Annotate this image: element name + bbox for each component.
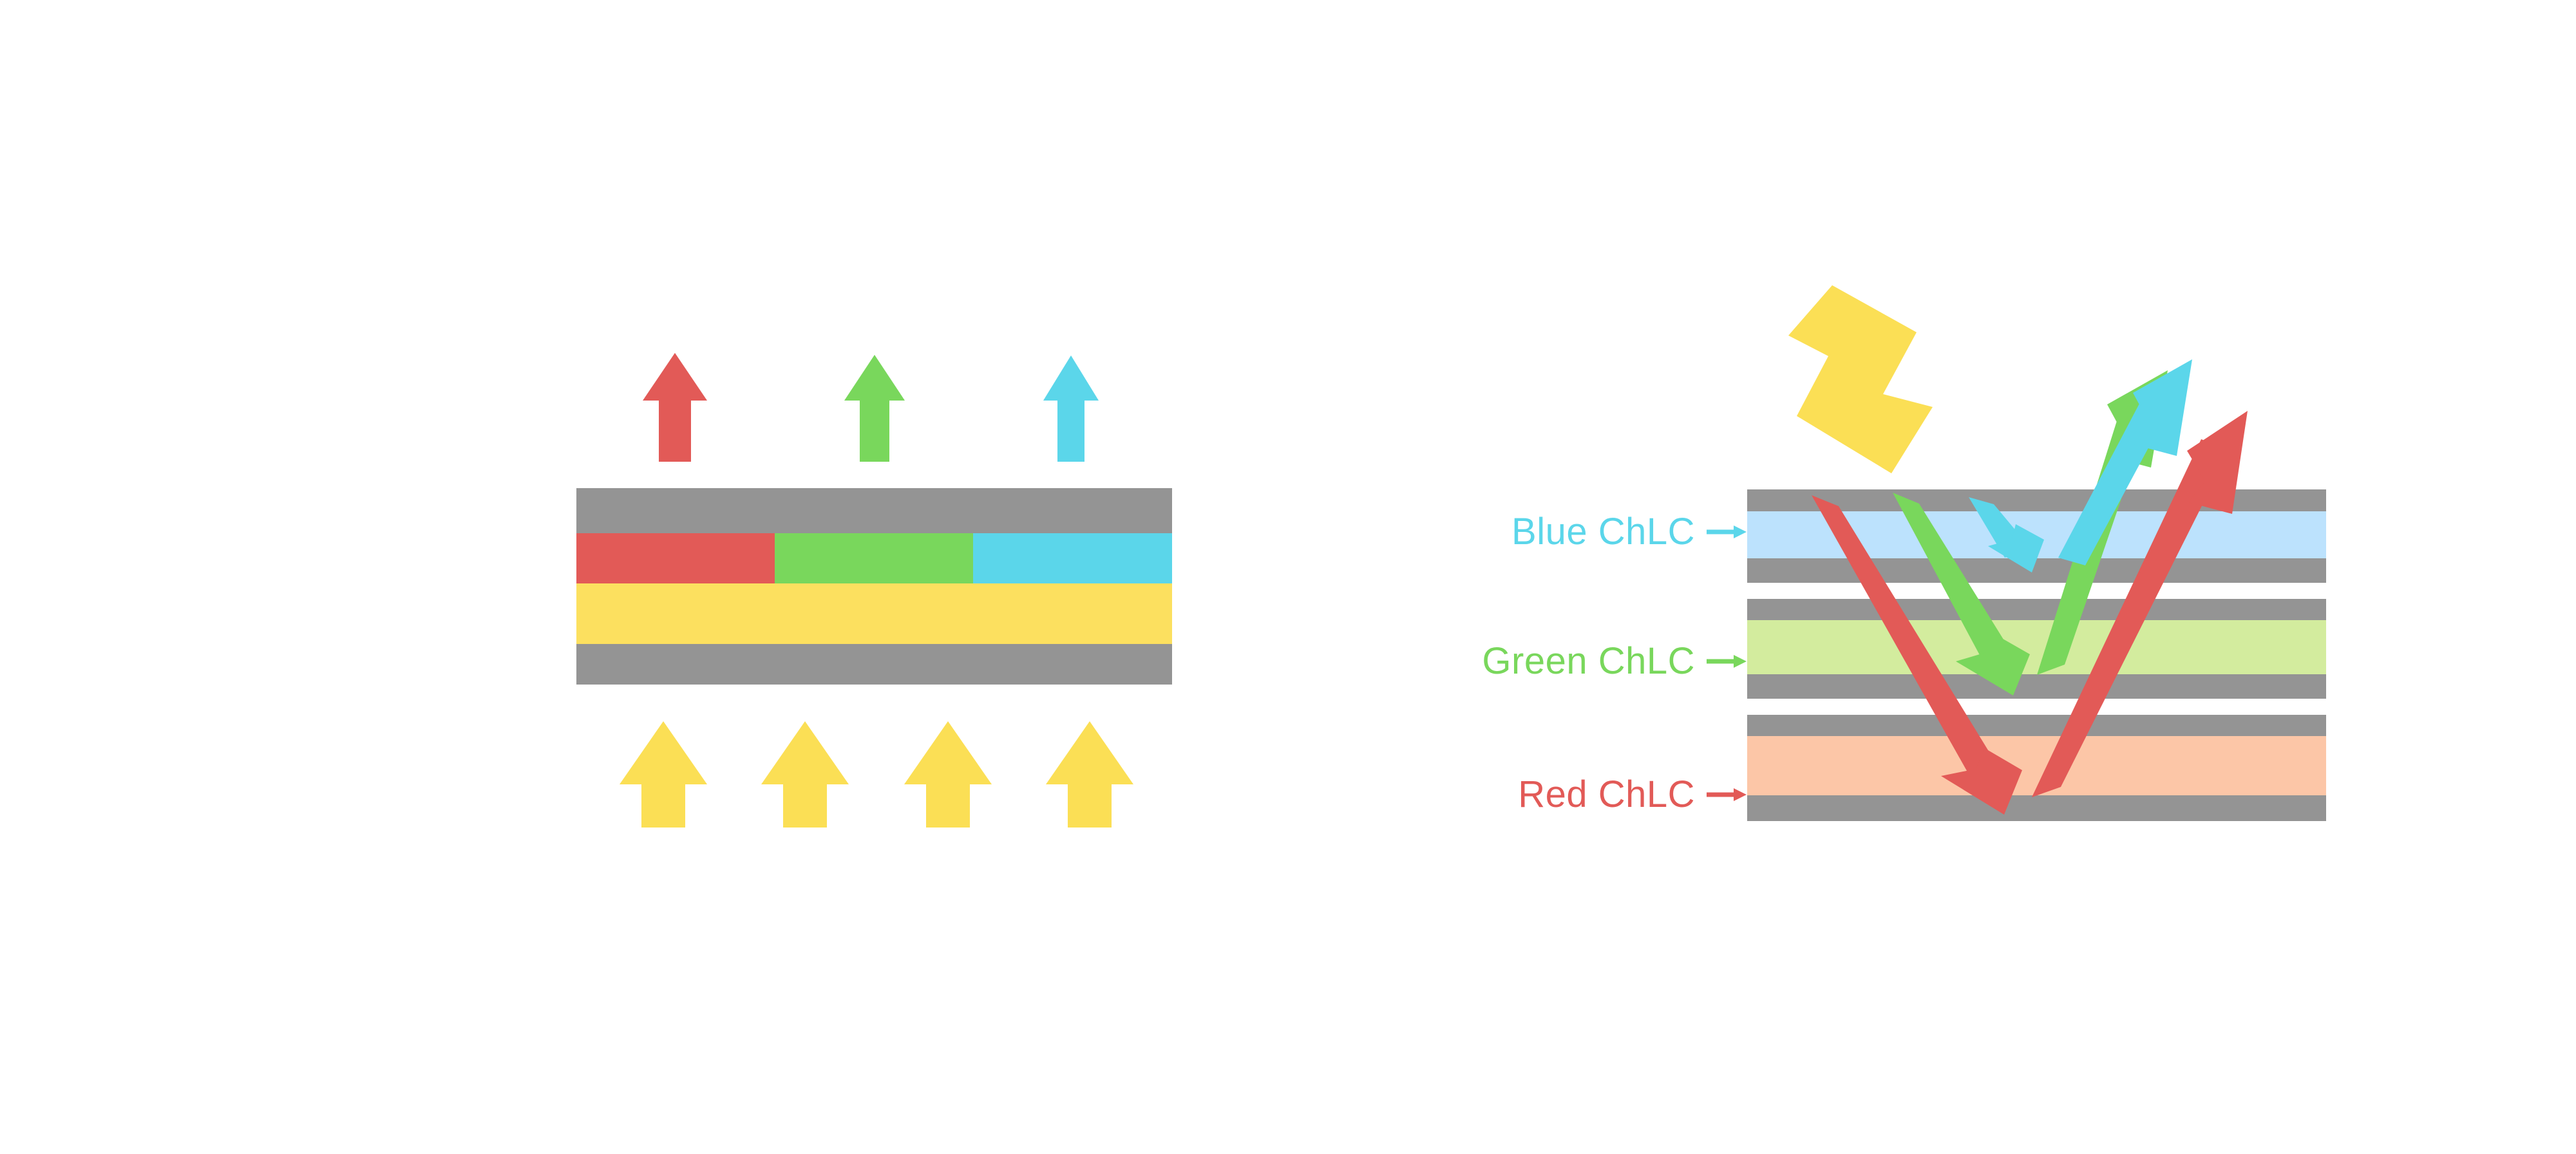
ambient-light-arrow [1788, 285, 1933, 473]
blue-chlc-label-arrow-icon [1707, 525, 1747, 538]
chlc-display-diagram: Blue ChLC Green ChLC Red ChLC [0, 0, 2576, 1154]
red-chlc-label: Red ChLC [1518, 773, 1747, 815]
green-chlc-label-text: Green ChLC [1482, 640, 1695, 682]
backlight-input-arrows [620, 721, 1133, 828]
green-cell-bottom-substrate [1747, 674, 2326, 699]
backlight-input-arrow [761, 721, 849, 828]
green-cell-top-substrate [1747, 599, 2326, 620]
red-chlc-layer [1747, 736, 2326, 795]
green-subpixel [775, 533, 973, 583]
emissive-stack-panel [576, 353, 1172, 828]
red-cell [1747, 715, 2326, 821]
blue-cell-bottom-substrate [1747, 558, 2326, 583]
blue-chlc-label: Blue ChLC [1511, 511, 1747, 553]
diagram-canvas: Blue ChLC Green ChLC Red ChLC [0, 0, 2576, 1154]
green-emission-arrow [844, 355, 905, 462]
blue-chlc-label-text: Blue ChLC [1511, 511, 1695, 553]
reflective-chlc-stack-panel: Blue ChLC Green ChLC Red ChLC [1482, 285, 2326, 821]
red-cell-top-substrate [1747, 715, 2326, 736]
green-chlc-label: Green ChLC [1482, 640, 1747, 682]
green-cell [1747, 599, 2326, 699]
rgb-subpixel-row [576, 533, 1172, 583]
backlight-input-arrow [904, 721, 992, 828]
red-cell-bottom-substrate [1747, 795, 2326, 821]
red-chlc-label-arrow-icon [1707, 788, 1747, 801]
red-emission-arrow [643, 353, 707, 462]
red-subpixel [576, 533, 775, 583]
bottom-electrode-layer [576, 644, 1172, 685]
backlight-layer [576, 583, 1172, 644]
backlight-input-arrow [620, 721, 707, 828]
red-chlc-label-text: Red ChLC [1518, 773, 1695, 815]
top-electrode-layer [576, 488, 1172, 533]
backlight-input-arrow [1046, 721, 1133, 828]
green-chlc-label-arrow-icon [1707, 655, 1747, 668]
blue-emission-arrow [1043, 355, 1099, 462]
green-chlc-layer [1747, 620, 2326, 674]
blue-subpixel [973, 533, 1172, 583]
